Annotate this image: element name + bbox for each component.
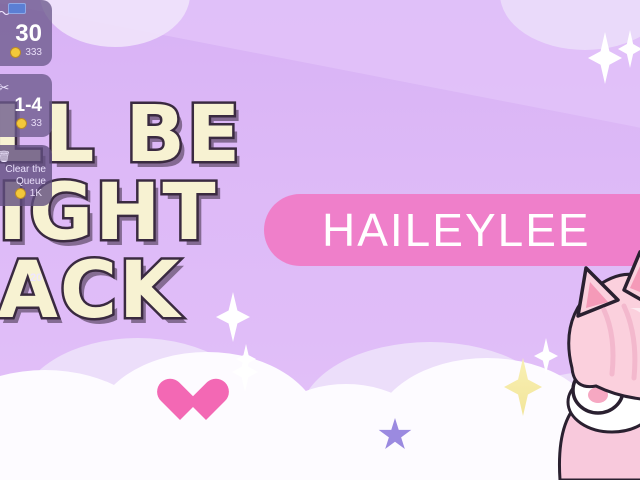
- clear-queue-label-line-1: Clear the: [0, 164, 46, 176]
- overlay-counter-cost: 333: [0, 47, 46, 58]
- sparkle-bottom-right-white: [222, 348, 223, 349]
- title-line-3: BACK: [0, 256, 356, 328]
- overlay-range-coin-value: 33: [31, 118, 42, 129]
- sparkle-white-near-clouds: [232, 352, 258, 392]
- trash-icon: 🗑: [0, 151, 46, 164]
- overlay-counter-value: 30: [0, 21, 46, 46]
- overlay-range-cost: 33: [0, 118, 46, 129]
- heart-decoration: [180, 378, 228, 422]
- clear-queue-coin-value: 1K: [30, 188, 42, 200]
- coin-icon: [16, 118, 27, 129]
- clear-queue-button[interactable]: 🗑 Clear the Queue 1K: [0, 145, 52, 206]
- stream-brb-screen: I'LL BE RIGHT BACK HAILEYLEE 〜 30 333 ✂ …: [0, 0, 640, 480]
- shuffle-icon: ✂: [0, 80, 46, 95]
- overlay-range-card[interactable]: ✂ 1-4 33: [0, 74, 52, 137]
- channel-points-overlay[interactable]: 〜 30 333 ✂ 1-4 33 🗑 Clear the Queue 1K: [0, 0, 52, 206]
- vtuber-character: [520, 250, 640, 480]
- overlay-bottom-value: 20: [30, 272, 42, 284]
- clear-queue-label-line-2: Queue: [0, 176, 46, 188]
- overlay-range-value: 1-4: [0, 95, 46, 117]
- sparkle-top-right-small: [618, 30, 640, 68]
- clear-queue-cost: 1K: [0, 188, 46, 200]
- coin-icon: [10, 47, 21, 58]
- streamer-name-label: HAILEYLEE: [322, 203, 591, 257]
- sparkle-top-right-large: [588, 32, 622, 84]
- title-line-1: I'LL BE: [0, 100, 356, 172]
- overlay-counter-coin-value: 333: [25, 47, 42, 58]
- top-left-badge-icon[interactable]: [8, 3, 26, 14]
- coin-icon: [15, 188, 26, 199]
